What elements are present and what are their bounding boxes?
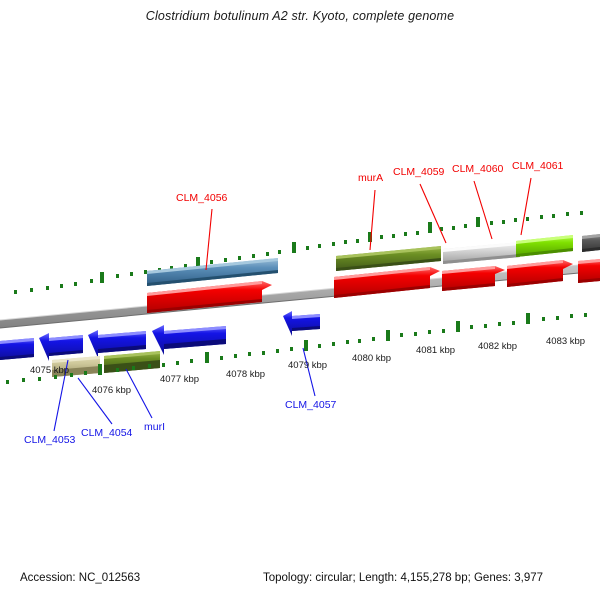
gene-arrow-clm4053[interactable] [39,333,83,361]
gene-arrow-clm4057[interactable] [283,311,320,336]
gene-label-clm4060[interactable]: CLM_4060 [452,163,503,175]
scale-tick-4079: 4079 kbp [288,360,327,371]
gene-label-muri[interactable]: murI [144,421,165,433]
scale-tick-4083: 4083 kbp [546,336,585,347]
gene-label-clm4053[interactable]: CLM_4053 [24,434,75,446]
gene-arrow-mura[interactable] [334,267,440,298]
genome-map [0,0,600,600]
scale-tick-4078: 4078 kbp [226,369,265,380]
leader-clm4061 [521,178,531,235]
scale-tick-4075: 4075 kbp [30,365,69,376]
genome-stats-text: Topology: circular; Length: 4,155,278 bp… [263,572,543,584]
gene-label-clm4059[interactable]: CLM_4059 [393,166,444,178]
scale-tick-4081: 4081 kbp [416,345,455,356]
leader-clm4057 [303,348,315,396]
domain-bar-clm4061[interactable] [582,234,600,252]
scale-tick-4082: 4082 kbp [478,341,517,352]
gene-label-clm4054[interactable]: CLM_4054 [81,427,132,439]
accession-text: Accession: NC_012563 [20,572,140,584]
gene-label-clm4061[interactable]: CLM_4061 [512,160,563,172]
domain-bar-mura[interactable] [336,246,441,271]
gene-label-clm4057[interactable]: CLM_4057 [285,399,336,411]
scale-tick-4080: 4080 kbp [352,353,391,364]
gene-arrow-muri[interactable] [152,325,226,355]
genome-viewer: Clostridium botulinum A2 str. Kyoto, com… [0,0,600,600]
scale-tick-4076: 4076 kbp [92,385,131,396]
domain-bar-clm4060[interactable] [516,235,573,257]
gene-label-mura[interactable]: murA [358,172,383,184]
gene-label-clm4056[interactable]: CLM_4056 [176,192,227,204]
leader-mura [370,190,375,250]
gene-arrow-clm4061[interactable] [578,259,600,283]
leader-clm4059 [420,184,446,243]
gene-arrow-clm4052[interactable] [0,338,34,360]
leader-clm4060 [474,181,492,239]
scale-tick-4077: 4077 kbp [160,374,199,385]
domain-bar-clm4059[interactable] [443,242,520,264]
